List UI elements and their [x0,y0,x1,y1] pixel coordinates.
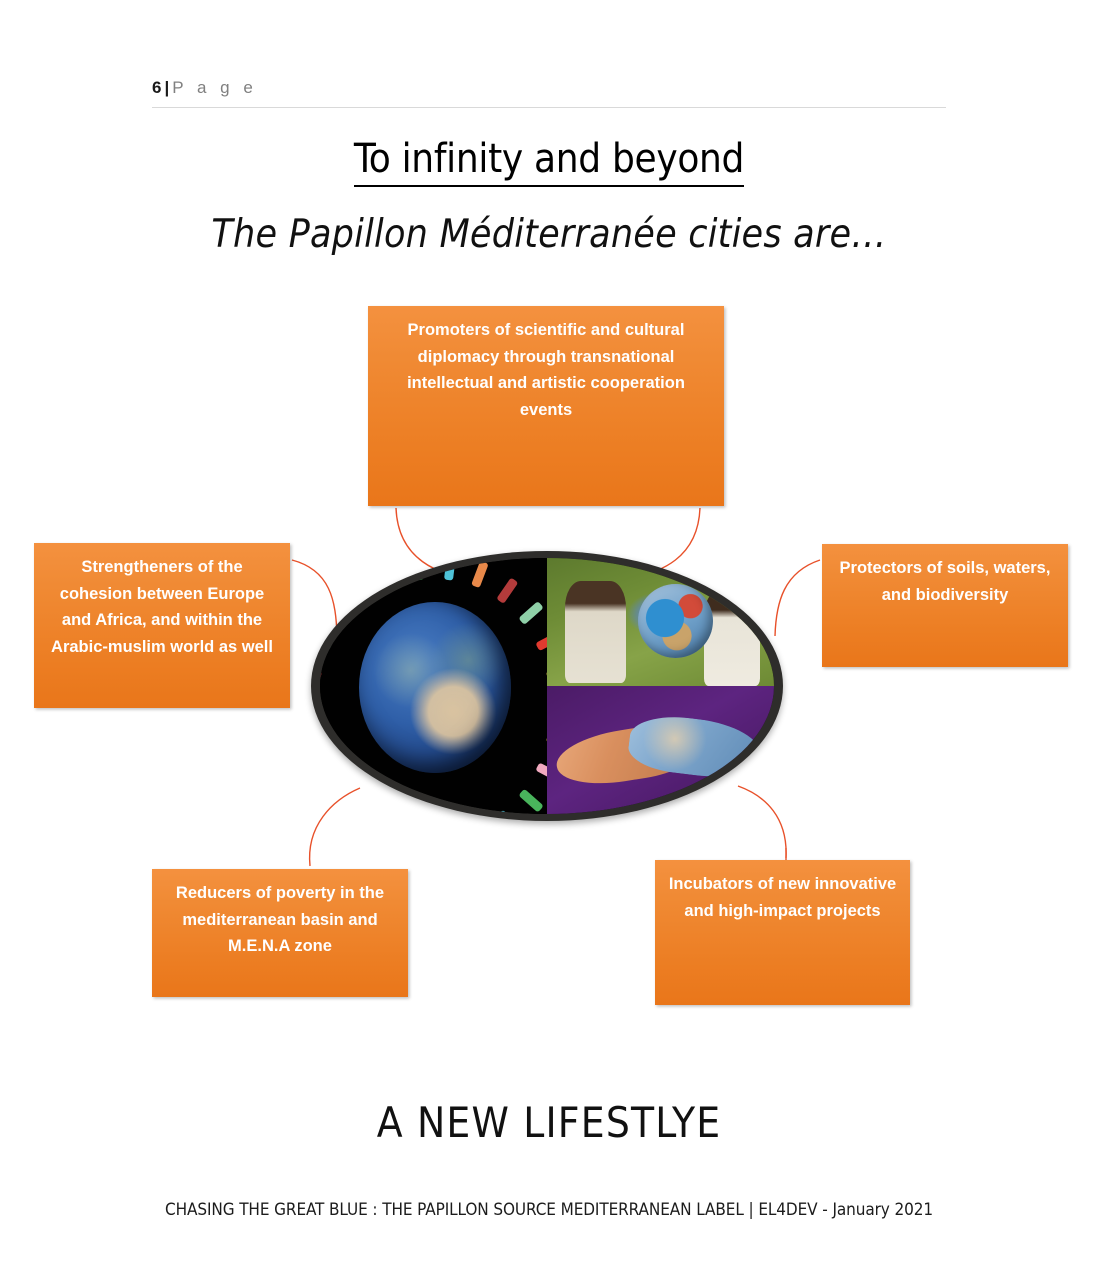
paper-figure [324,788,349,812]
earth-globe-icon [359,602,511,774]
connector-top [396,508,470,577]
connector-right [775,560,820,636]
paper-figure [497,810,519,814]
page-label: P a g e [172,78,257,97]
paper-figure [412,558,424,580]
paper-figure [518,601,543,625]
hand-upper-shape [626,711,764,783]
cities-attributes-diagram: Promoters of scientific and cultural dip… [0,0,1098,1280]
farmers-holding-globe-pane [547,558,774,686]
connector-bottom-right [738,786,786,858]
paper-figure [349,810,371,814]
paper-figure [546,733,547,748]
collage-inner [320,558,774,814]
connector-top-right [628,508,700,577]
paper-figure [379,561,397,589]
paper-figure [320,733,322,748]
callout-strengtheners[interactable]: Strengtheners of the cohesion between Eu… [34,543,290,708]
central-collage-graphic [311,551,783,821]
paper-figure [518,788,543,812]
paper-figure [320,762,333,782]
farmer-right-figure [704,591,761,686]
paper-figure [320,631,333,651]
paper-figure [535,631,547,651]
paper-figure [471,561,489,589]
callout-incubators[interactable]: Incubators of new innovative and high-im… [655,860,910,1005]
page-title: To infinity and beyond [0,136,1098,182]
hand-lower-shape [553,719,696,791]
globe-with-people-ring-pane [320,558,547,814]
paper-figure [349,577,371,604]
connector-left [292,560,337,636]
farmer-left-figure [565,581,626,683]
page-footer: CHASING THE GREAT BLUE : THE PAPILLON SO… [0,1200,1098,1220]
paper-figure [497,577,519,604]
paper-figure [444,558,456,580]
connector-arcs [0,0,1098,1280]
paper-figure [546,666,547,681]
paper-figure [320,666,322,681]
callout-promoters[interactable]: Promoters of scientific and cultural dip… [368,306,724,506]
page-header: 6|P a g e [152,78,946,108]
paper-figure [324,601,349,625]
page-title-text: To infinity and beyond [354,136,744,187]
closing-statement: A NEW LIFESTLYE [0,1098,1098,1147]
callout-reducers[interactable]: Reducers of poverty in the mediterranean… [152,869,408,997]
paper-figure [535,762,547,782]
connector-bottom-left [310,788,360,866]
page-subtitle: The Papillon Méditerranée cities are… [0,212,1098,257]
earth-painted-hands-pane [547,686,774,814]
header-separator: | [161,78,172,97]
held-globe-icon [638,584,713,658]
callout-protectors[interactable]: Protectors of soils, waters, and biodive… [822,544,1068,667]
